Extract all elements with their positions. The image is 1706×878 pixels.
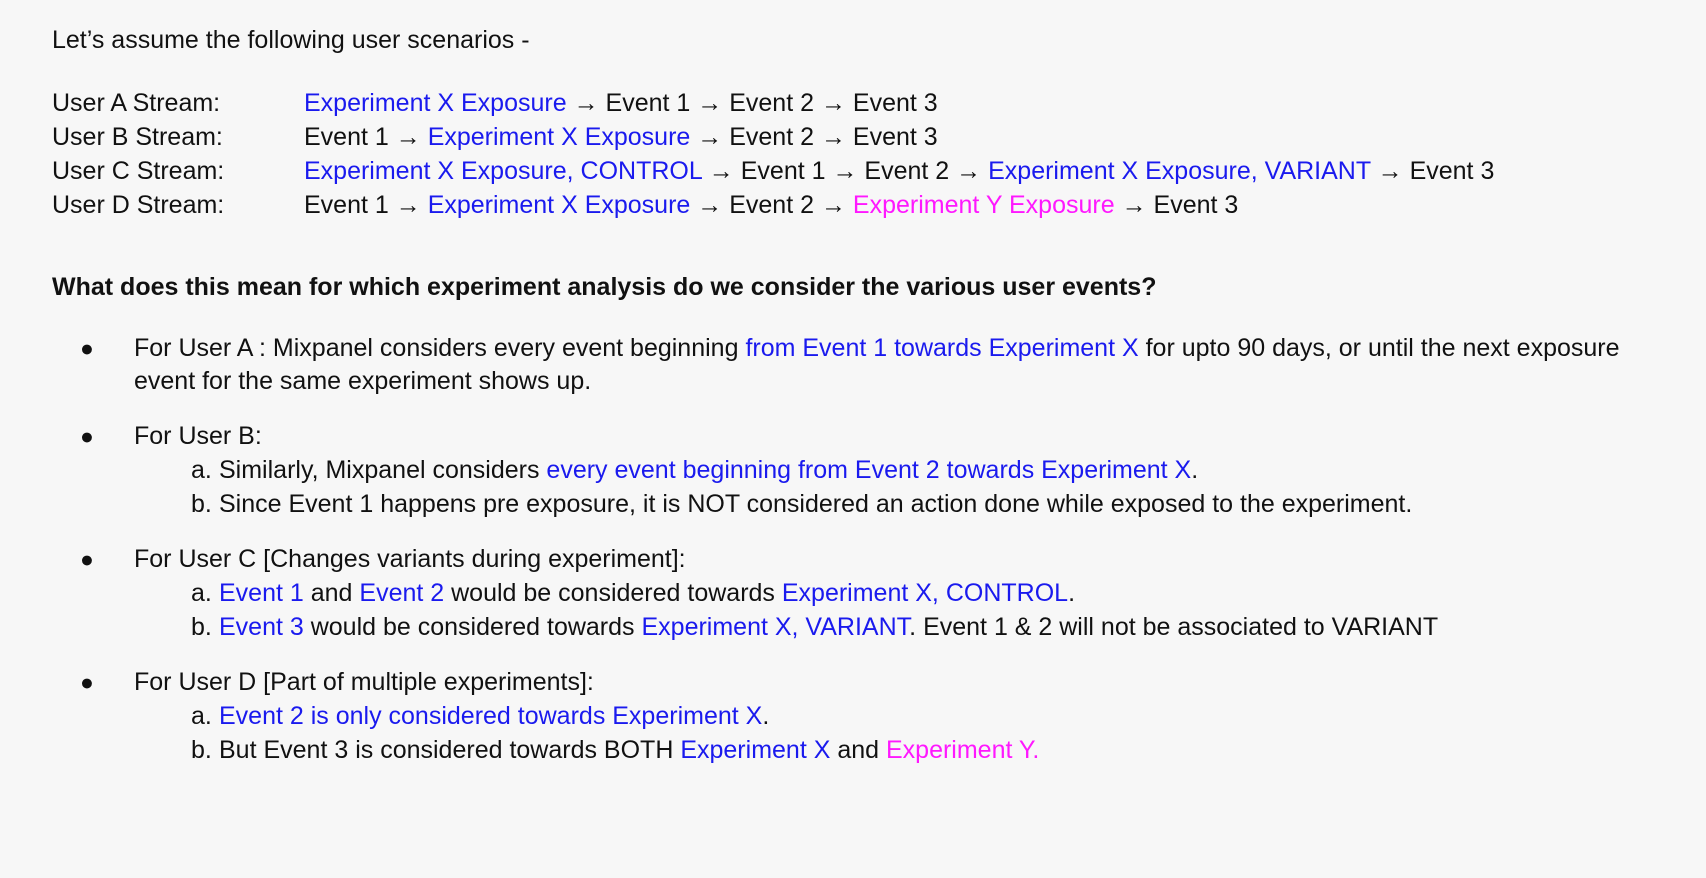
analysis-bullet-list: ●For User A : Mixpanel considers every e… bbox=[52, 332, 1672, 789]
stream-label: User D Stream: bbox=[52, 188, 304, 222]
sub-bullet-text: Since Event 1 happens pre exposure, it i… bbox=[219, 488, 1672, 521]
section-heading: What does this mean for which experiment… bbox=[52, 270, 1156, 304]
bullet-marker-icon: ● bbox=[52, 332, 134, 365]
text-segment: → bbox=[567, 89, 606, 117]
text-segment: → bbox=[690, 191, 729, 219]
text-segment: . bbox=[1191, 456, 1198, 484]
highlight-segment-blue: Experiment X Exposure bbox=[428, 123, 691, 151]
highlight-segment-blue: Event 2 is only considered towards Exper… bbox=[219, 702, 762, 730]
text-segment: Event 3 bbox=[1410, 157, 1495, 185]
text-segment: → bbox=[1371, 157, 1410, 185]
bullet-text: For User A : Mixpanel considers every ev… bbox=[134, 332, 1672, 398]
highlight-segment-blue: every event beginning from Event 2 towar… bbox=[546, 456, 1191, 484]
highlight-segment-magenta: Experiment Y Exposure bbox=[853, 191, 1115, 219]
intro-paragraph: Let’s assume the following user scenario… bbox=[52, 24, 530, 56]
stream-sequence: Experiment X Exposure → Event 1 → Event … bbox=[304, 86, 938, 120]
bullet-text: For User B: bbox=[134, 420, 1672, 453]
sub-list-item: b.But Event 3 is considered towards BOTH… bbox=[52, 734, 1672, 767]
sub-bullet-marker: a. bbox=[52, 700, 219, 733]
text-segment: and bbox=[830, 736, 886, 764]
text-segment: → bbox=[690, 123, 729, 151]
highlight-segment-blue: from Event 1 towards Experiment X bbox=[745, 334, 1138, 362]
sub-bullet-marker: b. bbox=[52, 734, 219, 767]
text-segment: Since Event 1 happens pre exposure, it i… bbox=[219, 490, 1412, 518]
sub-bullet-text: Event 3 would be considered towards Expe… bbox=[219, 611, 1672, 644]
text-segment: → bbox=[814, 191, 853, 219]
text-segment: For User C [Changes variants during expe… bbox=[134, 545, 686, 573]
bullet-block: ●For User A : Mixpanel considers every e… bbox=[52, 332, 1672, 398]
text-segment: → bbox=[814, 89, 853, 117]
text-segment: Event 3 bbox=[1154, 191, 1239, 219]
sub-bullet-marker: b. bbox=[52, 611, 219, 644]
text-segment: → bbox=[949, 157, 988, 185]
highlight-segment-blue: Event 1 bbox=[219, 579, 304, 607]
text-segment: . Event 1 & 2 will not be associated to … bbox=[909, 613, 1438, 641]
sub-bullet-text: Similarly, Mixpanel considers every even… bbox=[219, 454, 1672, 487]
highlight-segment-blue: Experiment X bbox=[680, 736, 830, 764]
stream-row: User B Stream:Event 1 → Experiment X Exp… bbox=[52, 120, 1494, 154]
list-item: ●For User B: bbox=[52, 420, 1672, 453]
text-segment: would be considered towards bbox=[444, 579, 782, 607]
sub-list-item: a.Event 1 and Event 2 would be considere… bbox=[52, 577, 1672, 610]
text-segment: → bbox=[690, 89, 729, 117]
sub-bullet-text: Event 2 is only considered towards Exper… bbox=[219, 700, 1672, 733]
highlight-segment-blue: Experiment X Exposure bbox=[304, 89, 567, 117]
stream-row: User C Stream:Experiment X Exposure, CON… bbox=[52, 154, 1494, 188]
bullet-text: For User D [Part of multiple experiments… bbox=[134, 666, 1672, 699]
text-segment: . bbox=[1068, 579, 1075, 607]
sub-bullet-text: Event 1 and Event 2 would be considered … bbox=[219, 577, 1672, 610]
sub-list-item: a.Event 2 is only considered towards Exp… bbox=[52, 700, 1672, 733]
text-segment: Event 2 bbox=[864, 157, 949, 185]
sub-bullet-marker: b. bbox=[52, 488, 219, 521]
text-segment: and bbox=[304, 579, 360, 607]
text-segment: → bbox=[814, 123, 853, 151]
stream-label: User A Stream: bbox=[52, 86, 304, 120]
text-segment: → bbox=[702, 157, 741, 185]
text-segment: For User D [Part of multiple experiments… bbox=[134, 668, 594, 696]
highlight-segment-blue: Event 3 bbox=[219, 613, 304, 641]
text-segment: For User A : Mixpanel considers every ev… bbox=[134, 334, 745, 362]
highlight-segment-magenta: Experiment Y. bbox=[886, 736, 1039, 764]
text-segment: Event 2 bbox=[729, 123, 814, 151]
user-streams-block: User A Stream:Experiment X Exposure → Ev… bbox=[52, 86, 1494, 222]
highlight-segment-blue: Event 2 bbox=[359, 579, 444, 607]
highlight-segment-blue: Experiment X, CONTROL bbox=[782, 579, 1068, 607]
text-segment: Event 1 bbox=[304, 191, 389, 219]
text-segment: For User B: bbox=[134, 422, 262, 450]
sub-list-item: b.Event 3 would be considered towards Ex… bbox=[52, 611, 1672, 644]
list-item: ●For User A : Mixpanel considers every e… bbox=[52, 332, 1672, 398]
list-item: ●For User D [Part of multiple experiment… bbox=[52, 666, 1672, 699]
highlight-segment-blue: Experiment X Exposure bbox=[428, 191, 691, 219]
text-segment: Event 1 bbox=[304, 123, 389, 151]
text-segment: Event 2 bbox=[729, 89, 814, 117]
highlight-segment-blue: Experiment X Exposure, CONTROL bbox=[304, 157, 702, 185]
text-segment: Event 2 bbox=[729, 191, 814, 219]
stream-sequence: Event 1 → Experiment X Exposure → Event … bbox=[304, 188, 1238, 222]
text-segment: → bbox=[1115, 191, 1154, 219]
text-segment: Event 3 bbox=[853, 123, 938, 151]
text-segment: → bbox=[826, 157, 865, 185]
bullet-block: ●For User B:a.Similarly, Mixpanel consid… bbox=[52, 420, 1672, 521]
text-segment: Event 1 bbox=[606, 89, 691, 117]
sub-list-item: a.Similarly, Mixpanel considers every ev… bbox=[52, 454, 1672, 487]
text-segment: Event 3 bbox=[853, 89, 938, 117]
sub-bullet-marker: a. bbox=[52, 454, 219, 487]
list-item: ●For User C [Changes variants during exp… bbox=[52, 543, 1672, 576]
sub-bullet-text: But Event 3 is considered towards BOTH E… bbox=[219, 734, 1672, 767]
text-segment: Event 1 bbox=[741, 157, 826, 185]
stream-row: User D Stream:Event 1 → Experiment X Exp… bbox=[52, 188, 1494, 222]
bullet-marker-icon: ● bbox=[52, 543, 134, 576]
stream-row: User A Stream:Experiment X Exposure → Ev… bbox=[52, 86, 1494, 120]
text-segment: → bbox=[389, 123, 428, 151]
bullet-marker-icon: ● bbox=[52, 420, 134, 453]
highlight-segment-blue: Experiment X Exposure, VARIANT bbox=[988, 157, 1371, 185]
highlight-segment-blue: Experiment X, VARIANT bbox=[641, 613, 909, 641]
stream-sequence: Event 1 → Experiment X Exposure → Event … bbox=[304, 120, 938, 154]
bullet-marker-icon: ● bbox=[52, 666, 134, 699]
text-segment: Similarly, Mixpanel considers bbox=[219, 456, 546, 484]
sub-list-item: b.Since Event 1 happens pre exposure, it… bbox=[52, 488, 1672, 521]
text-segment: would be considered towards bbox=[304, 613, 642, 641]
text-segment: → bbox=[389, 191, 428, 219]
text-segment: But Event 3 is considered towards BOTH bbox=[219, 736, 680, 764]
bullet-block: ●For User D [Part of multiple experiment… bbox=[52, 666, 1672, 767]
stream-label: User C Stream: bbox=[52, 154, 304, 188]
document-page: Let’s assume the following user scenario… bbox=[0, 0, 1706, 878]
bullet-text: For User C [Changes variants during expe… bbox=[134, 543, 1672, 576]
stream-label: User B Stream: bbox=[52, 120, 304, 154]
bullet-block: ●For User C [Changes variants during exp… bbox=[52, 543, 1672, 644]
stream-sequence: Experiment X Exposure, CONTROL → Event 1… bbox=[304, 154, 1494, 188]
sub-bullet-marker: a. bbox=[52, 577, 219, 610]
text-segment: . bbox=[762, 702, 769, 730]
